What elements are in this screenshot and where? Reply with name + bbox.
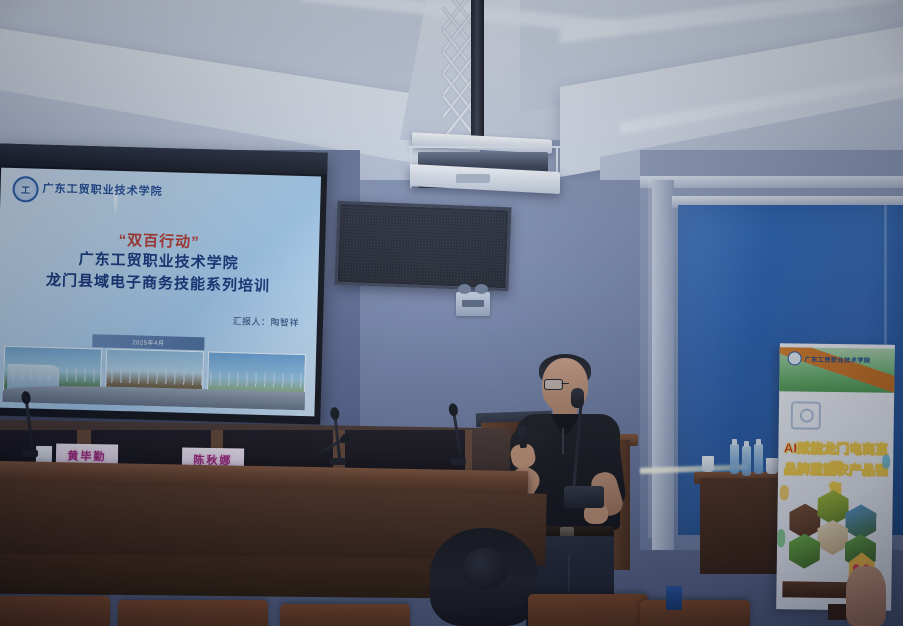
foreground-hand xyxy=(846,566,886,626)
water-bottle[interactable] xyxy=(742,446,751,476)
banner-stand xyxy=(828,604,848,620)
paper-cup[interactable] xyxy=(702,456,714,472)
university-crest-icon: 工 xyxy=(12,176,39,203)
water-bottle[interactable] xyxy=(754,444,763,474)
auditorium-chair[interactable] xyxy=(528,594,648,626)
livestream-camera-icon xyxy=(791,401,821,429)
farm-machine-hex-photo xyxy=(845,504,876,539)
lychee-hex-photo xyxy=(817,520,848,555)
polo-placket xyxy=(562,428,564,454)
banner-logo-text: 广东工贸职业技术学院 xyxy=(805,354,871,364)
auditorium-chair[interactable] xyxy=(0,596,110,626)
microphone-base xyxy=(450,458,466,465)
slide-photo-strip xyxy=(3,346,306,410)
lift-pole xyxy=(471,0,484,140)
water-bottle[interactable] xyxy=(730,444,739,474)
banner-header: 广东工贸职业技术学院 xyxy=(779,347,895,393)
smartphone[interactable] xyxy=(666,586,682,610)
led-display-panel xyxy=(334,201,511,292)
podium-microphone-base xyxy=(564,486,604,508)
projection-screen: 工 广东工贸职业技术学院 “双百行动” 广东工贸职业技术学院 龙门县域电子商务技… xyxy=(0,143,328,424)
university-crest-icon xyxy=(788,351,802,365)
rice-field-hex-photo xyxy=(817,490,848,525)
slide-presenter-label: 汇报人：陶智祥 xyxy=(232,314,299,329)
presentation-slide: 工 广东工贸职业技术学院 “双百行动” 广东工贸职业技术学院 龙门县域电子商务技… xyxy=(0,168,321,417)
wall-trim xyxy=(640,176,903,188)
banner-logo: 广东工贸职业技术学院 xyxy=(788,351,871,366)
auditorium-chair[interactable] xyxy=(640,600,750,626)
lecture-hall-scene: 工 广东工贸职业技术学院 “双百行动” 广东工贸职业技术学院 龙门县域电子商务技… xyxy=(0,0,903,626)
led-mesh xyxy=(340,206,507,286)
leafy-greens-hex-photo xyxy=(789,533,820,568)
grain-hex-photo xyxy=(789,503,820,538)
slide-logo-text: 广东工贸职业技术学院 xyxy=(42,184,162,199)
slide-date: 2025年4月 xyxy=(132,337,164,347)
banner-decor-blob xyxy=(780,485,789,500)
hair-bun xyxy=(462,548,508,590)
banner-decor-blob xyxy=(882,455,890,469)
slide-institution-logo: 工 广东工贸职业技术学院 xyxy=(12,176,163,206)
audience-bench-row xyxy=(0,554,450,599)
microphone-base xyxy=(22,450,38,457)
eyeglasses-icon xyxy=(544,379,586,388)
banner-decor-blob xyxy=(777,529,785,547)
paper-cup[interactable] xyxy=(766,458,778,474)
emergency-light-fixture xyxy=(456,292,490,316)
microphone-base xyxy=(330,458,346,465)
wall-pillar xyxy=(652,180,674,550)
auditorium-chair[interactable] xyxy=(280,604,410,626)
projector-lens xyxy=(456,174,490,183)
auditorium-chair[interactable] xyxy=(118,600,268,626)
wall-seam xyxy=(648,178,652,538)
